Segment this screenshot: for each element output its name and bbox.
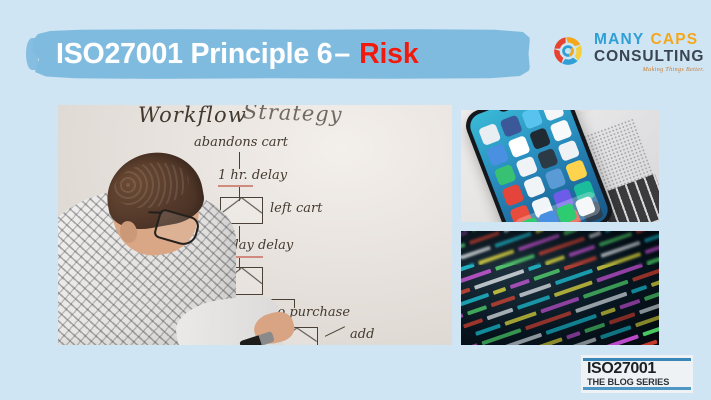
app-icon[interactable] [494,164,517,187]
app-icon[interactable] [536,147,559,170]
page-title-dash: – [334,38,350,71]
brand-tagline: Making Things Better. [594,67,704,73]
source-code-screen-photo [461,231,659,345]
app-icon[interactable] [523,176,546,199]
whiteboard-heading-left: Workflow [138,105,247,127]
slide-canvas: ISO27001 Principle 6 – Risk [0,0,711,400]
dock-app-icon[interactable] [556,202,578,222]
smartphone-apps-photo [461,110,659,222]
brand-word-consulting: CONSULTING [594,49,704,65]
whiteboard-workflow-photo: Workflow Strategy abandons cart 1 hr. de… [58,105,452,345]
whiteboard-connector [239,152,240,169]
app-icon[interactable] [528,127,551,150]
brand-wordmark: MANYCAPS CONSULTING Making Things Better… [594,28,704,73]
page-title: ISO27001 Principle 6 – Risk [56,29,418,79]
blog-series-badge: ISO27001 THE BLOG SERIES [581,355,693,393]
whiteboard-node-left-cart: left cart [270,201,323,216]
brand-logo: MANYCAPS CONSULTING Making Things Better… [548,28,706,80]
brand-word-many: MANY [594,31,644,48]
app-icon[interactable] [478,123,501,146]
app-icon[interactable] [507,135,530,158]
brand-word-caps: CAPS [650,31,698,48]
app-icon[interactable] [544,168,567,191]
app-icon[interactable] [557,139,580,162]
whiteboard-heading-right: Strategy [243,105,343,127]
badge-bottom-rule [583,387,691,390]
title-banner: ISO27001 Principle 6 – Risk [30,29,530,79]
page-title-accent: Risk [359,38,418,71]
badge-subtitle: THE BLOG SERIES [587,378,693,387]
dock-app-icon[interactable] [574,195,596,217]
whiteboard-node-add: add [350,327,374,342]
app-icon[interactable] [550,119,573,142]
whiteboard-node-abandons-cart: abandons cart [194,135,288,150]
app-icon[interactable] [486,143,509,166]
brand-line-one: MANYCAPS [594,32,704,48]
page-title-main: ISO27001 Principle 6 [56,38,332,71]
app-icon[interactable] [499,115,522,138]
manycaps-rings-icon [548,31,588,71]
whiteboard-node-1hr-delay: 1 hr. delay [218,168,287,183]
badge-text-block: ISO27001 THE BLOG SERIES [581,361,693,387]
app-icon[interactable] [501,184,524,207]
whiteboard-underline [218,185,253,187]
screen-blur-overlay [461,231,659,265]
app-icon[interactable] [565,159,588,182]
badge-title: ISO27001 [587,361,693,377]
app-icon[interactable] [515,155,538,178]
app-icon[interactable] [521,110,544,130]
